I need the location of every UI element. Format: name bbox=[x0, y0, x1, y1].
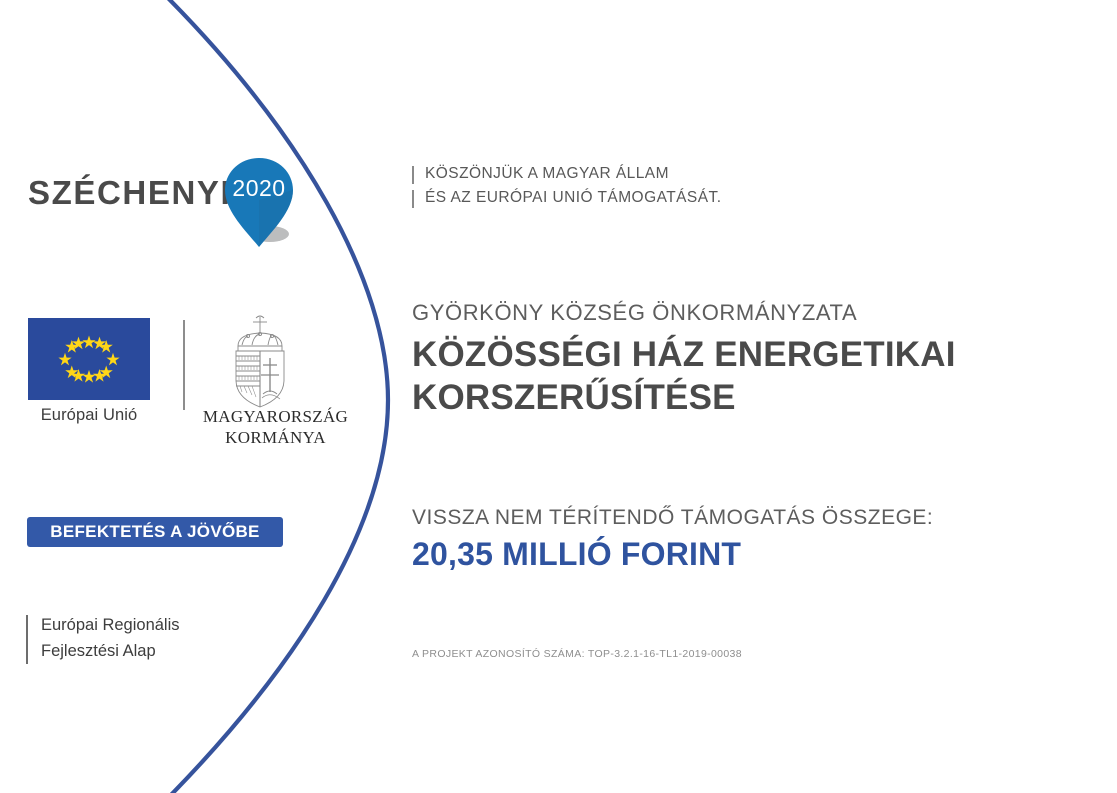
hungary-coat-of-arms-icon bbox=[218, 312, 302, 412]
eu-and-hungary-logos: Európai Unió bbox=[28, 318, 318, 458]
hungary-caption-line-2: KORMÁNYA bbox=[183, 427, 368, 448]
invest-badge-label: BEFEKTETÉS A JÖVŐBE bbox=[50, 522, 259, 542]
thanks-line-2: ÉS AZ EURÓPAI UNIÓ TÁMOGATÁSÁT. bbox=[425, 189, 721, 207]
poster-canvas: SZÉCHENYI 2020 bbox=[0, 0, 1117, 793]
grant-block: VISSZA NEM TÉRÍTENDŐ TÁMOGATÁS ÖSSZEGE: … bbox=[412, 506, 1072, 573]
map-pin-icon: 2020 bbox=[220, 155, 298, 250]
thanks-block: KÖSZÖNJÜK A MAGYAR ÁLLAM ÉS AZ EURÓPAI U… bbox=[412, 165, 932, 213]
erdf-text: Európai Regionális Fejlesztési Alap bbox=[41, 613, 180, 664]
szechenyi-wordmark: SZÉCHENYI bbox=[28, 174, 231, 212]
hungary-caption-line-1: MAGYARORSZÁG bbox=[183, 406, 368, 427]
thanks-line-1: KÖSZÖNJÜK A MAGYAR ÁLLAM bbox=[425, 165, 669, 183]
logo-divider bbox=[183, 320, 185, 410]
project-title-line-1: KÖZÖSSÉGI HÁZ ENERGETIKAI bbox=[412, 333, 1072, 376]
eu-flag-caption: Európai Unió bbox=[28, 406, 150, 425]
project-identifier: A PROJEKT AZONOSÍTÓ SZÁMA: TOP-3.2.1-16-… bbox=[412, 648, 742, 660]
project-block: GYÖRKÖNY KÖZSÉG ÖNKORMÁNYZATA KÖZÖSSÉGI … bbox=[412, 300, 1072, 419]
szechenyi-2020-logo: SZÉCHENYI 2020 bbox=[28, 152, 298, 252]
grant-amount: 20,35 MILLIÓ FORINT bbox=[412, 536, 1072, 573]
project-title-line-2: KORSZERŰSÍTÉSE bbox=[412, 376, 1072, 419]
thanks-row-1: KÖSZÖNJÜK A MAGYAR ÁLLAM bbox=[412, 165, 932, 186]
erdf-fund-block: Európai Regionális Fejlesztési Alap bbox=[26, 613, 286, 671]
erdf-line-2: Fejlesztési Alap bbox=[41, 639, 180, 665]
thanks-row-2: ÉS AZ EURÓPAI UNIÓ TÁMOGATÁSÁT. bbox=[412, 189, 932, 210]
svg-text:2020: 2020 bbox=[232, 175, 285, 201]
project-owner: GYÖRKÖNY KÖZSÉG ÖNKORMÁNYZATA bbox=[412, 300, 1072, 326]
invest-in-future-badge: BEFEKTETÉS A JÖVŐBE bbox=[27, 517, 283, 547]
erdf-tick-mark bbox=[26, 615, 28, 664]
hungary-government-caption: MAGYARORSZÁG KORMÁNYA bbox=[183, 406, 368, 449]
grant-label: VISSZA NEM TÉRÍTENDŐ TÁMOGATÁS ÖSSZEGE: bbox=[412, 506, 1072, 530]
thanks-tick-2 bbox=[412, 190, 414, 208]
eu-flag-icon bbox=[28, 318, 150, 400]
erdf-line-1: Európai Regionális bbox=[41, 613, 180, 639]
project-title: KÖZÖSSÉGI HÁZ ENERGETIKAI KORSZERŰSÍTÉSE bbox=[412, 333, 1072, 419]
thanks-tick-1 bbox=[412, 166, 414, 184]
